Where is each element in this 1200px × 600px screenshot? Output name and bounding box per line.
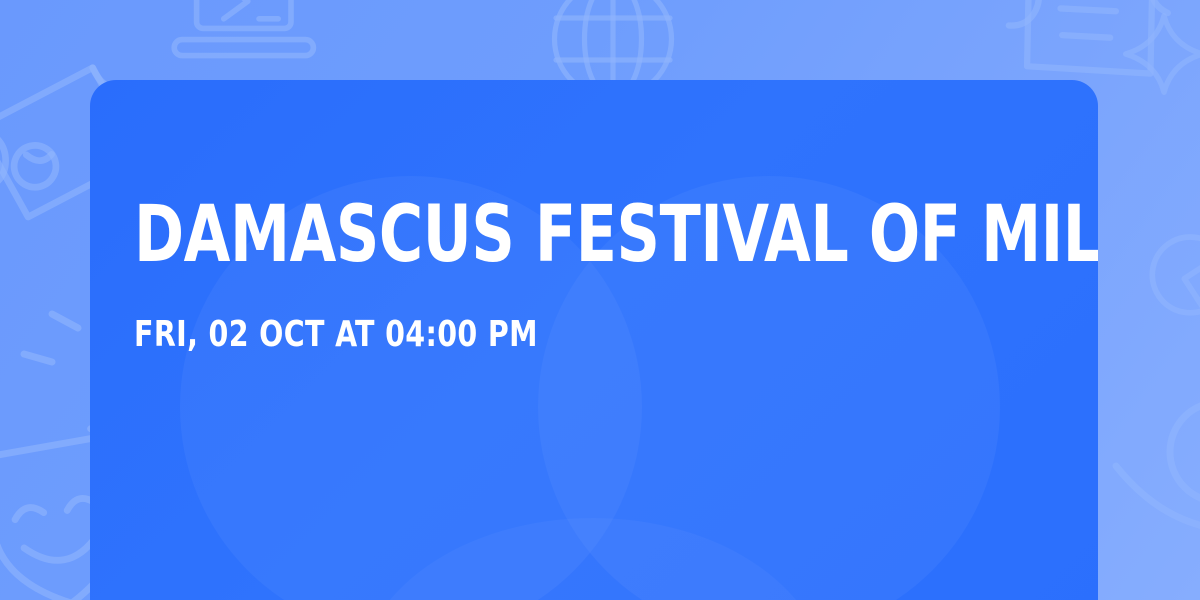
- music-note-icon: [1112, 452, 1200, 600]
- sparkle-star-icon: [1118, 8, 1200, 100]
- event-banner: Damascus Festival of Miles Fri, 02 Oct a…: [0, 0, 1200, 600]
- event-text-block: Damascus Festival of Miles Fri, 02 Oct a…: [134, 198, 1054, 353]
- event-datetime: Fri, 02 Oct at 04:00 PM: [134, 317, 944, 353]
- microphone-icon: [1121, 217, 1200, 378]
- event-title: Damascus Festival of Miles: [134, 198, 925, 273]
- event-card: Damascus Festival of Miles Fri, 02 Oct a…: [90, 80, 1098, 600]
- circle-icon: [1160, 392, 1200, 512]
